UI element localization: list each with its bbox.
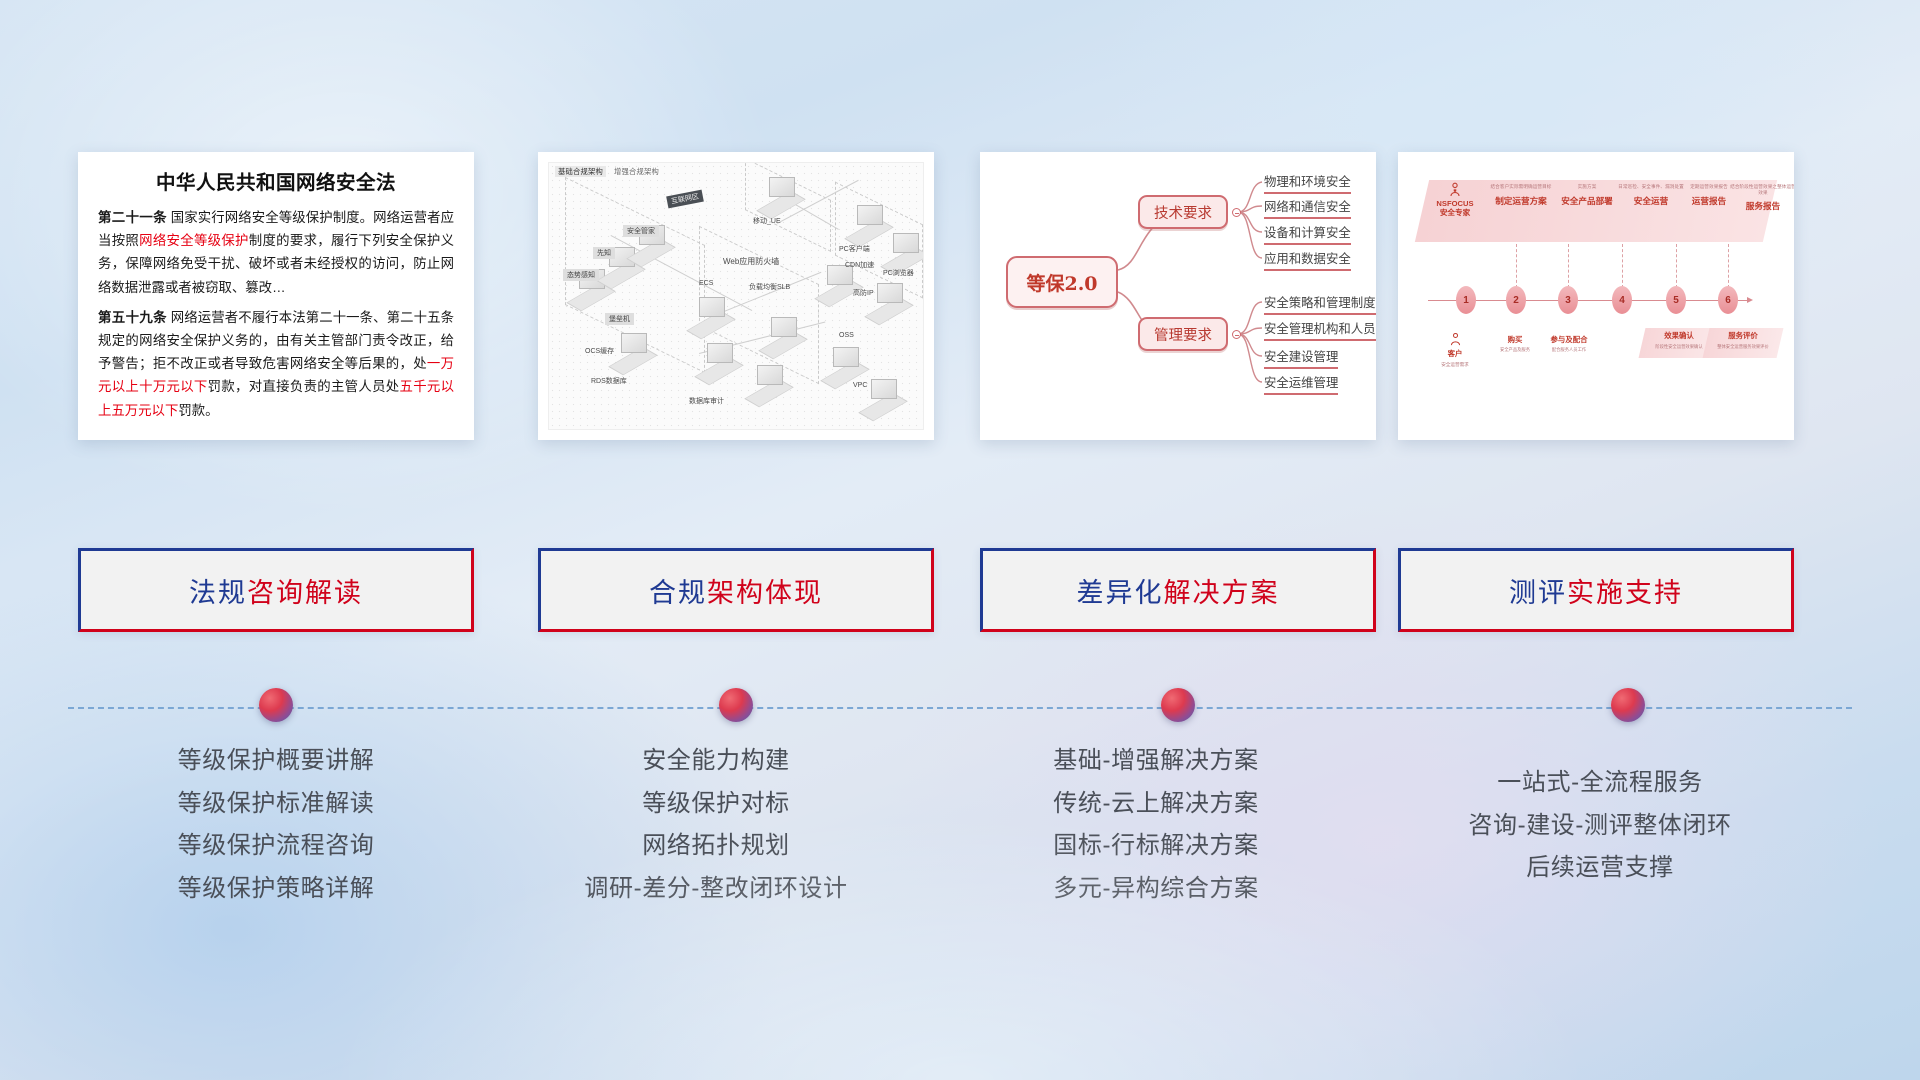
heading-text-2: 合规架构体现: [649, 571, 823, 610]
slide-canvas: 中华人民共和国网络安全法 第二十一条 国家实行网络安全等级保护制度。网络运营者应…: [0, 0, 1920, 1080]
arch-label-oss: OSS: [835, 331, 858, 340]
nsfocus-step-5: 结合阶段性运营效果之整体运营效果 服务报告: [1730, 184, 1794, 212]
law-article-59-text-end: 罚款。: [178, 403, 218, 418]
nsfocus-axis: [1428, 300, 1748, 301]
nsfocus-tag-1-name: 购买: [1484, 334, 1546, 345]
nsfocus-step-5-title: 服务报告: [1730, 200, 1794, 212]
heading-1-red: 咨询解读: [247, 578, 363, 608]
nsfocus-milestone-3[interactable]: 3: [1558, 286, 1578, 314]
heading-text-4: 测评实施支持: [1509, 571, 1683, 610]
nsfocus-canvas: NSFOCUS 安全专家 结合客户实际需明确运营目标 制定运营方案 实施方案 安…: [1398, 152, 1794, 440]
person-star-icon: [1447, 182, 1463, 198]
nsfocus-stem-2: [1516, 244, 1517, 288]
arch-label-vpc: VPC: [849, 381, 871, 390]
nsfocus-tag-4-name: 服务评价: [1706, 330, 1780, 341]
list-item: 传统-云上解决方案: [956, 783, 1356, 826]
nsfocus-step-5-sub: 结合阶段性运营效果之整体运营效果: [1730, 184, 1794, 195]
nsfocus-expert-sub: 安全专家: [1424, 208, 1486, 217]
arch-label-bastion-host: 堡垒机: [605, 313, 634, 325]
arch-label-db-audit: 数据库审计: [685, 395, 728, 407]
list-item: 等级保护对标: [516, 783, 916, 826]
mindmap-toggle-technical[interactable]: [1232, 208, 1241, 217]
law-paragraph-59: 第五十九条 网络运营者不履行本法第二十一条、第二十五条规定的网络安全保护义务的，…: [98, 306, 454, 422]
nsfocus-tag-2-sub: 配合服务人员工作: [1538, 347, 1600, 353]
list-item: 一站式-全流程服务: [1400, 762, 1800, 805]
list-item: 基础-增强解决方案: [956, 740, 1356, 783]
arch-label-waf: Web应用防火墙: [719, 255, 783, 268]
arch-box-6: [707, 343, 733, 363]
nsfocus-step-1: 结合客户实际需明确运营目标 制定运营方案: [1488, 184, 1554, 207]
heading-text-3: 差异化解决方案: [1077, 571, 1280, 610]
timeline-node-4[interactable]: [1611, 688, 1645, 722]
mindmap-leaf-tech-0: 物理和环境安全: [1264, 172, 1351, 194]
timeline-node-2[interactable]: [719, 688, 753, 722]
heading-4-blue: 测评: [1509, 578, 1567, 608]
arch-label-ocs: OCS缓存: [581, 345, 618, 357]
law-title: 中华人民共和国网络安全法: [98, 166, 454, 195]
mindmap-leaf-mgmt-3: 安全运维管理: [1264, 373, 1338, 395]
mindmap-leaf-tech-1: 网络和通信安全: [1264, 197, 1351, 219]
arch-box-8: [757, 365, 783, 385]
arch-label-rds: RDS数据库: [587, 375, 631, 387]
timeline-node-1[interactable]: [259, 688, 293, 722]
mindmap-root-node[interactable]: 等保2.0: [1006, 256, 1118, 308]
heading-2-red: 架构体现: [707, 578, 823, 608]
list-item: 等级保护概要讲解: [76, 740, 476, 783]
list-item: 调研-差分-整改闭环设计: [516, 868, 916, 911]
card-architecture-diagram[interactable]: 基础合规架构增强合规架构: [538, 152, 934, 440]
nsfocus-customer-sub: 安全运营需求: [1422, 362, 1488, 368]
timeline-node-3[interactable]: [1161, 688, 1195, 722]
arch-label-security-butler: 安全管家: [623, 225, 659, 237]
heading-3-red: 解决方案: [1164, 578, 1280, 608]
arch-box-9: [833, 347, 859, 367]
detail-lists-row: 等级保护概要讲解 等级保护标准解读 等级保护流程咨询 等级保护策略详解 安全能力…: [0, 740, 1920, 960]
arch-label-mobile-ue: 移动_UE: [749, 215, 785, 227]
mindmap-leaf-mgmt-2: 安全建设管理: [1264, 347, 1338, 369]
arch-box-5: [699, 297, 725, 317]
mindmap-toggle-management[interactable]: [1232, 330, 1241, 339]
nsfocus-milestone-1[interactable]: 1: [1456, 286, 1476, 314]
detail-list-regulation-consulting: 等级保护概要讲解 等级保护标准解读 等级保护流程咨询 等级保护策略详解: [76, 740, 476, 911]
nsfocus-milestone-6[interactable]: 6: [1718, 286, 1738, 314]
headings-row: 法规咨询解读 合规架构体现 差异化解决方案 测评实施支持: [0, 548, 1920, 636]
nsfocus-stem-4: [1622, 244, 1623, 288]
heading-box-compliance-architecture[interactable]: 合规架构体现: [538, 548, 934, 632]
nsfocus-tag-1-sub: 安全产品及服务: [1484, 347, 1546, 353]
arch-box-4: [621, 333, 647, 353]
arch-label-internet-zone: 互联网区: [666, 190, 704, 209]
law-article-21-highlight: 网络安全等级保护: [139, 233, 249, 248]
law-article-59-label: 第五十九条: [98, 310, 167, 325]
nsfocus-tag-4-sub: 整体安全运营服务效果评价: [1706, 344, 1780, 350]
nsfocus-step-2-title: 安全产品部署: [1554, 195, 1620, 207]
arch-label-situation-awareness: 态势感知: [563, 269, 599, 281]
timeline: [0, 688, 1920, 728]
law-article-21-label: 第二十一条: [98, 210, 167, 225]
mindmap-branch-management[interactable]: 管理要求: [1138, 317, 1228, 351]
nsfocus-milestone-2[interactable]: 2: [1506, 286, 1526, 314]
nsfocus-milestone-4[interactable]: 4: [1612, 286, 1632, 314]
nsfocus-step-2-sub: 实施方案: [1554, 184, 1620, 190]
arch-box-13: [893, 233, 919, 253]
nsfocus-step-3-sub: 日常巡检、安全事件、漏洞处置: [1618, 184, 1684, 190]
nsfocus-tag-2: 参与及配合 配合服务人员工作: [1538, 334, 1600, 353]
heading-2-blue: 合规: [649, 578, 707, 608]
nsfocus-tag-4: 服务评价 整体安全运营服务效果评价: [1706, 330, 1780, 350]
law-paragraph-21: 第二十一条 国家实行网络安全等级保护制度。网络运营者应当按照网络安全等级保护制度…: [98, 206, 454, 299]
nsfocus-stem-6: [1728, 244, 1729, 288]
mindmap-leaf-tech-2: 设备和计算安全: [1264, 223, 1351, 245]
list-item: 后续运营支撑: [1400, 847, 1800, 890]
nsfocus-customer: 客户 安全运营需求: [1422, 332, 1488, 368]
nsfocus-stem-3: [1568, 244, 1569, 288]
card-nsfocus-timeline[interactable]: NSFOCUS 安全专家 结合客户实际需明确运营目标 制定运营方案 实施方案 安…: [1398, 152, 1794, 440]
arch-label-anti-ddos: 高防IP: [849, 287, 878, 299]
nsfocus-step-2: 实施方案 安全产品部署: [1554, 184, 1620, 207]
nsfocus-tag-2-name: 参与及配合: [1538, 334, 1600, 345]
law-document-body: 中华人民共和国网络安全法 第二十一条 国家实行网络安全等级保护制度。网络运营者应…: [78, 152, 474, 439]
list-item: 等级保护标准解读: [76, 783, 476, 826]
arch-label-pc-browser: PC浏览器: [879, 267, 918, 279]
detail-list-assessment-support: 一站式-全流程服务 咨询-建设-测评整体闭环 后续运营支撑: [1400, 740, 1800, 890]
arch-label-ecs: ECS: [695, 279, 717, 288]
nsfocus-step-1-sub: 结合客户实际需明确运营目标: [1488, 184, 1554, 190]
list-item: 多元-异构综合方案: [956, 868, 1356, 911]
mindmap-branch-technical[interactable]: 技术要求: [1138, 195, 1228, 229]
heading-box-differentiated-solution[interactable]: 差异化解决方案: [980, 548, 1376, 632]
arch-label-slb: 负载均衡SLB: [745, 281, 794, 293]
arch-box-7: [771, 317, 797, 337]
list-item: 等级保护流程咨询: [76, 825, 476, 868]
timeline-dashed-line: [68, 707, 1852, 709]
arch-box-11: [769, 177, 795, 197]
card-law-document[interactable]: 中华人民共和国网络安全法 第二十一条 国家实行网络安全等级保护制度。网络运营者应…: [78, 152, 474, 440]
nsfocus-stem-5: [1676, 244, 1677, 288]
architecture-canvas: 基础合规架构增强合规架构: [548, 162, 924, 430]
nsfocus-step-1-title: 制定运营方案: [1488, 195, 1554, 207]
arch-box-15: [877, 283, 903, 303]
list-item: 网络拓扑规划: [516, 825, 916, 868]
nsfocus-banner-content: NSFOCUS 安全专家 结合客户实际需明确运营目标 制定运营方案 实施方案 安…: [1422, 180, 1770, 242]
detail-list-differentiated-solution: 基础-增强解决方案 传统-云上解决方案 国标-行标解决方案 多元-异构综合方案: [956, 740, 1356, 911]
arch-box-10: [871, 379, 897, 399]
list-item: 咨询-建设-测评整体闭环: [1400, 805, 1800, 848]
nsfocus-expert: NSFOCUS 安全专家: [1424, 182, 1486, 218]
arch-label-cdn: CDN加速: [841, 259, 878, 271]
architecture-isometric-scene: 互联网区 安全管家 先知 态势感知 堡垒机 ECS OCS缓存 RDS数据库 数…: [549, 163, 923, 429]
law-article-59-text-mid: 罚款，对直接负责的主管人员处: [208, 379, 400, 394]
nsfocus-milestone-5[interactable]: 5: [1666, 286, 1686, 314]
nsfocus-tag-1: 购买 安全产品及服务: [1484, 334, 1546, 353]
heading-box-assessment-support[interactable]: 测评实施支持: [1398, 548, 1794, 632]
heading-text-1: 法规咨询解读: [189, 571, 363, 610]
heading-3-blue: 差异化: [1077, 578, 1164, 608]
nsfocus-step-3: 日常巡检、安全事件、漏洞处置 安全运营: [1618, 184, 1684, 207]
nsfocus-tag-3-name: 效果确认: [1642, 330, 1716, 341]
nsfocus-step-3-title: 安全运营: [1618, 195, 1684, 207]
list-item: 安全能力构建: [516, 740, 916, 783]
card-mindmap[interactable]: 等保2.0 技术要求 物理和环境安全 网络和通信安全 设备和计算安全 应用和数据…: [980, 152, 1376, 440]
detail-list-compliance-architecture: 安全能力构建 等级保护对标 网络拓扑规划 调研-差分-整改闭环设计: [516, 740, 916, 911]
heading-box-regulation-consulting[interactable]: 法规咨询解读: [78, 548, 474, 632]
mindmap-leaf-mgmt-1: 安全管理机构和人员: [1264, 319, 1376, 341]
mindmap-leaf-mgmt-0: 安全策略和管理制度: [1264, 293, 1376, 315]
list-item: 国标-行标解决方案: [956, 825, 1356, 868]
arch-label-xianzhi: 先知: [593, 247, 615, 259]
mindmap-leaf-tech-3: 应用和数据安全: [1264, 249, 1351, 271]
nsfocus-customer-name: 客户: [1422, 348, 1488, 359]
mindmap-canvas: 等保2.0 技术要求 物理和环境安全 网络和通信安全 设备和计算安全 应用和数据…: [980, 152, 1376, 440]
arch-label-pc-client: PC客户端: [835, 243, 874, 255]
arch-box-12: [857, 205, 883, 225]
list-item: 等级保护策略详解: [76, 868, 476, 911]
heading-4-red: 实施支持: [1567, 578, 1683, 608]
customer-icon: [1448, 332, 1463, 347]
cards-row: 中华人民共和国网络安全法 第二十一条 国家实行网络安全等级保护制度。网络运营者应…: [0, 152, 1920, 452]
heading-1-blue: 法规: [189, 578, 247, 608]
